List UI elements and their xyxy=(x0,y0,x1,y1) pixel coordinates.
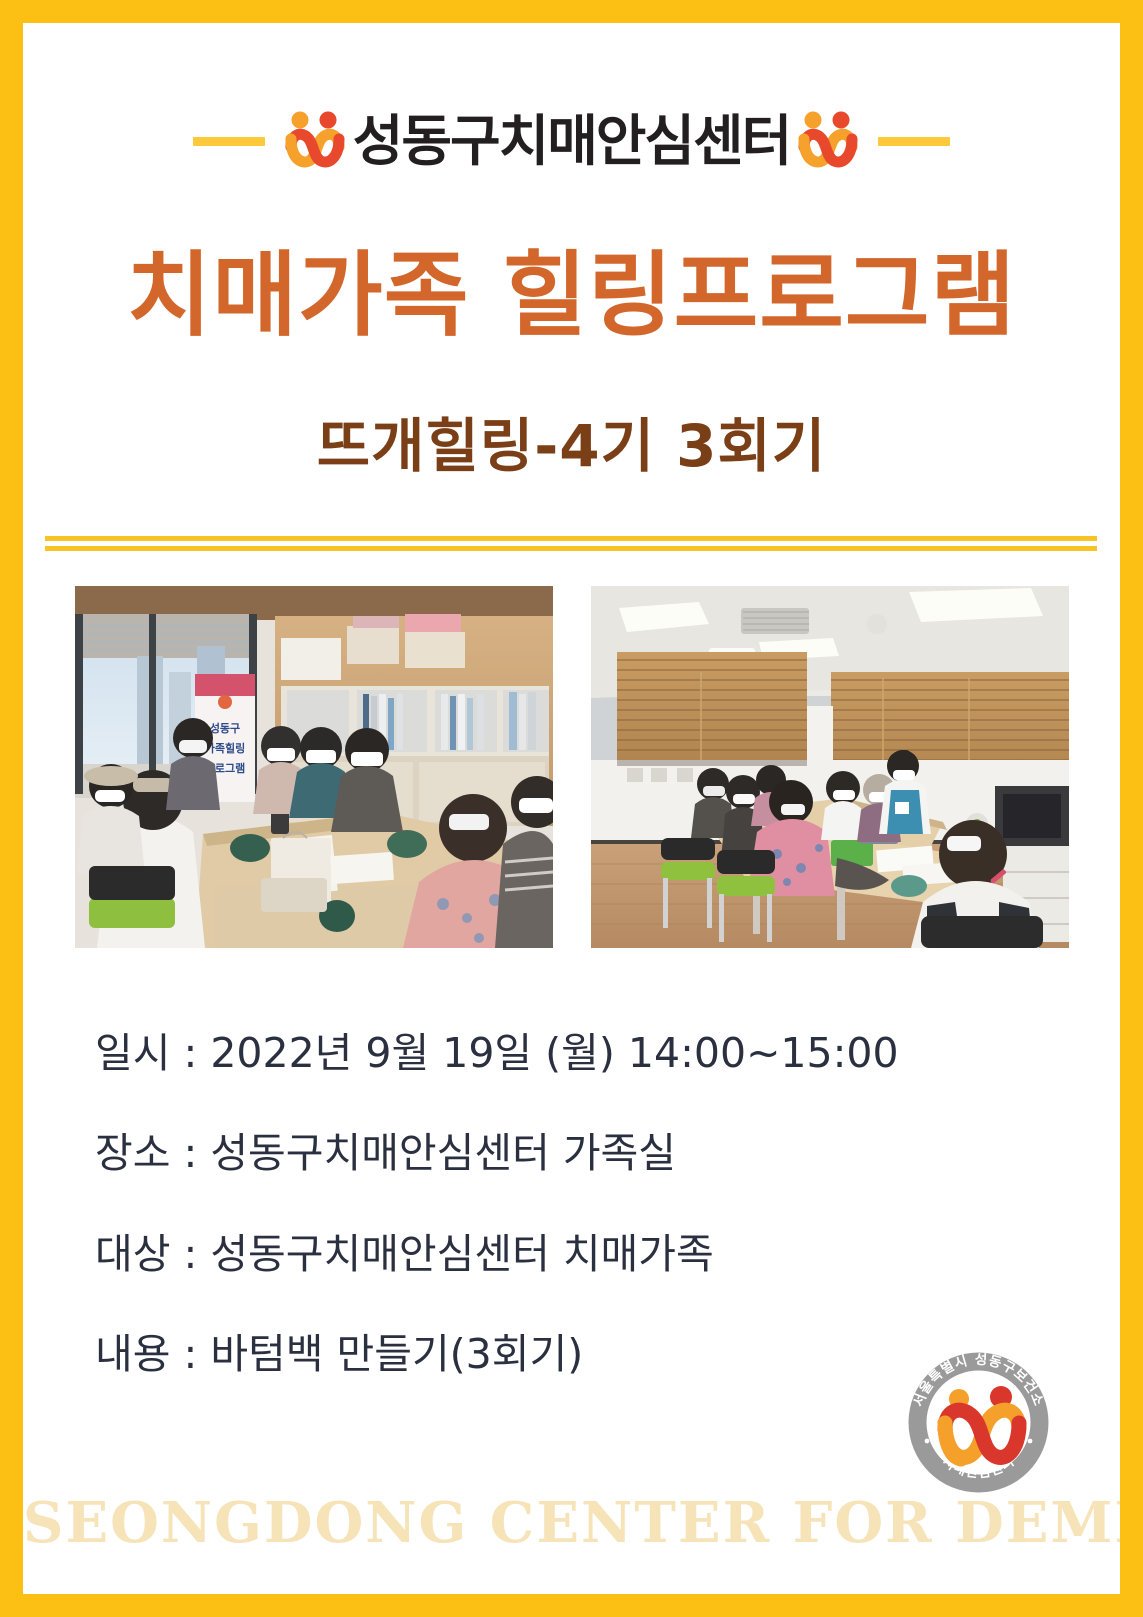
header-dash-left xyxy=(193,137,265,146)
photo-knitting-class-wide-view xyxy=(591,586,1069,948)
header-center-title: 성동구치매안심센터 xyxy=(353,114,790,169)
poster-root: 성동구치매안심센터 치매가족 힐링프로그램 뜨개힐링-4기 3회기 xyxy=(0,0,1143,1617)
photo-gallery: 성동구 가족힐링 프로그램 xyxy=(23,586,1120,951)
seongdong-dementia-logo-icon xyxy=(283,109,347,173)
info-line-location: 장소 : 성동구치매안심센터 가족실 xyxy=(95,1128,1055,1179)
info-line-datetime: 일시 : 2022년 9월 19일 (월) 14:00~15:00 xyxy=(95,1028,1055,1079)
divider-line-bottom xyxy=(45,546,1097,551)
photo-knitting-class-family-room: 성동구 가족힐링 프로그램 xyxy=(75,586,553,948)
program-info-list: 일시 : 2022년 9월 19일 (월) 14:00~15:00 장소 : 성… xyxy=(95,1028,1055,1380)
header-dash-right xyxy=(878,137,950,146)
header-brand: 성동구치매안심센터 xyxy=(283,109,860,173)
seongdong-dementia-logo-icon-right xyxy=(796,109,860,173)
svg-text:성동구: 성동구 xyxy=(209,721,239,735)
section-divider xyxy=(45,536,1097,551)
info-line-audience: 대상 : 성동구치매안심센터 치매가족 xyxy=(95,1229,1055,1280)
footer-watermark: SEONGDONG CENTER FOR DEMENTIA xyxy=(23,1495,1120,1551)
poster-header: 성동구치매안심센터 xyxy=(23,95,1120,187)
program-main-title: 치매가족 힐링프로그램 xyxy=(23,245,1120,346)
seongdong-health-center-seal-icon: 서울특별시 성동구보건소 치매안심센터 xyxy=(897,1341,1060,1504)
program-sub-title: 뜨개힐링-4기 3회기 xyxy=(23,415,1120,479)
poster-inner: 성동구치매안심센터 치매가족 힐링프로그램 뜨개힐링-4기 3회기 xyxy=(23,23,1120,1594)
